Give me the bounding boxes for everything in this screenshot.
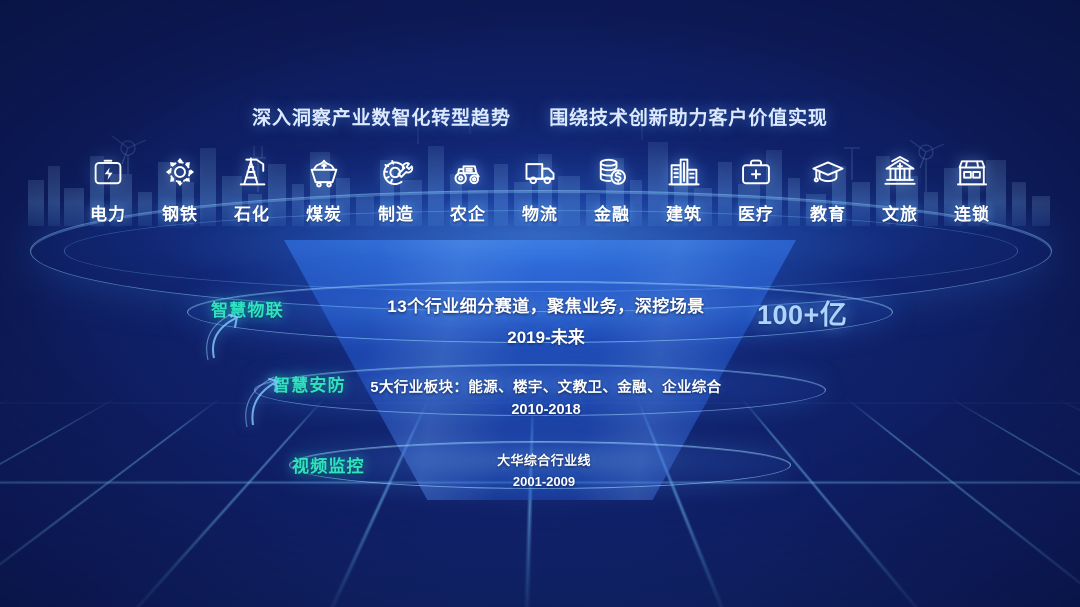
infographic-stage: 深入洞察产业数智化转型趋势 围绕技术创新助力客户价值实现 电力钢铁石化煤炭制造农… [0,0,1080,607]
tier-2-line-2: 2010-2018 [370,402,721,418]
industry-item-钢铁[interactable]: 钢铁 [144,152,216,225]
tier-3-label: 视频监控 [292,452,365,477]
industry-label: 物流 [522,200,558,225]
industry-label: 建筑 [666,200,702,225]
industry-label: 农企 [450,200,486,225]
tier-2-label: 智慧安防 [273,371,346,396]
industry-item-制造[interactable]: 制造 [360,152,432,225]
battery-bolt-icon [88,152,128,192]
tier-1-line-1: 13个行业细分赛道，聚焦业务，深挖场景 [387,292,704,317]
industry-item-农企[interactable]: 农企 [432,152,504,225]
tier-3-line-1: 大华综合行业线 [497,450,591,469]
industry-item-教育[interactable]: 教育 [792,152,864,225]
tractor-icon [448,152,488,192]
gear-icon [160,152,200,192]
tier-1-line-2: 2019-未来 [387,323,704,348]
industry-item-连锁[interactable]: 连锁 [936,152,1008,225]
tier-2-line-1: 5大行业板块：能源、楼宇、文教卫、金融、企业综合 [370,376,721,397]
industry-label: 连锁 [954,200,990,225]
buildings-icon [664,152,704,192]
tier-1-text: 13个行业细分赛道，聚焦业务，深挖场景 2019-未来 [387,292,704,348]
storefront-icon [952,152,992,192]
industry-label: 电力 [90,200,126,225]
delivery-truck-icon [520,152,560,192]
industry-label: 制造 [378,200,414,225]
museum-icon [880,152,920,192]
tier-3-line-2: 2001-2009 [497,474,591,489]
oil-derrick-icon [232,152,272,192]
industry-item-文旅[interactable]: 文旅 [864,152,936,225]
headline-part-2: 围绕技术创新助力客户价值实现 [549,108,828,129]
industry-item-金融[interactable]: 金融 [576,152,648,225]
industry-label: 石化 [234,200,270,225]
page-title: 深入洞察产业数智化转型趋势 围绕技术创新助力客户价值实现 [0,103,1080,130]
industry-label: 教育 [810,200,846,225]
tier-2-text: 5大行业板块：能源、楼宇、文教卫、金融、企业综合 2010-2018 [370,376,721,418]
perspective-floor-grid [0,397,1080,607]
industry-icon-row: 电力钢铁石化煤炭制造农企物流金融建筑医疗教育文旅连锁 [0,152,1080,225]
industry-label: 煤炭 [306,200,342,225]
coins-dollar-icon [592,152,632,192]
gear-wrench-icon [376,152,416,192]
tier-3-text: 大华综合行业线 2001-2009 [497,450,591,489]
industry-item-医疗[interactable]: 医疗 [720,152,792,225]
industry-label: 文旅 [882,200,918,225]
industry-item-物流[interactable]: 物流 [504,152,576,225]
industry-label: 金融 [594,200,630,225]
tier-1-figure: 100+亿 [757,293,847,332]
industry-item-石化[interactable]: 石化 [216,152,288,225]
industry-item-电力[interactable]: 电力 [72,152,144,225]
industry-label: 钢铁 [162,200,198,225]
headline-part-1: 深入洞察产业数智化转型趋势 [252,108,511,129]
graduation-cap-icon [808,152,848,192]
industry-item-建筑[interactable]: 建筑 [648,152,720,225]
medical-case-icon [736,152,776,192]
tier-1-label: 智慧物联 [211,296,284,321]
industry-item-煤炭[interactable]: 煤炭 [288,152,360,225]
coal-cart-icon [304,152,344,192]
industry-label: 医疗 [738,200,774,225]
